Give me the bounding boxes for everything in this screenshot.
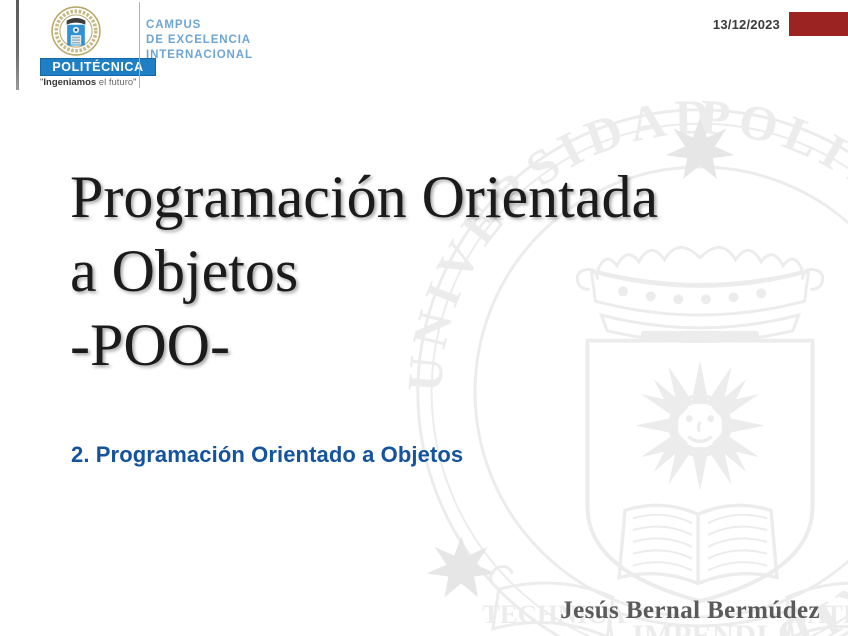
header-vertical-rule: [16, 0, 19, 90]
logo-divider: [139, 2, 140, 88]
campus-line-3: INTERNACIONAL: [146, 48, 253, 63]
author-name: Jesús Bernal Bermúdez: [560, 597, 820, 625]
logo-slogan: "Ingeniamos el futuro": [40, 78, 158, 88]
slogan-bold-word: Ingeniamos: [43, 77, 96, 88]
accent-color-block: [789, 12, 848, 36]
campus-line-2: DE EXCELENCIA: [146, 33, 253, 48]
seal-book: [619, 505, 777, 583]
slide-title: Programación Orientada a Objetos -POO-: [70, 160, 800, 382]
slogan-light-words: el futuro: [96, 77, 133, 88]
upm-logo: POLITÉCNICA "Ingeniamos el futuro": [20, 2, 138, 92]
upm-crest-icon: [50, 5, 102, 57]
slide-subtitle: 2. Programación Orientado a Objetos: [71, 442, 463, 468]
presentation-slide: UNIVERSIDAD POLITÉCNICA MADRID: [0, 0, 848, 636]
slide-date: 13/12/2023: [713, 17, 780, 32]
slogan-close-quote: ": [133, 77, 136, 88]
politecnica-wordmark-text: POLITÉCNICA: [52, 61, 143, 74]
campus-excelencia-text: CAMPUS DE EXCELENCIA INTERNACIONAL: [146, 18, 253, 63]
campus-line-1: CAMPUS: [146, 18, 253, 33]
